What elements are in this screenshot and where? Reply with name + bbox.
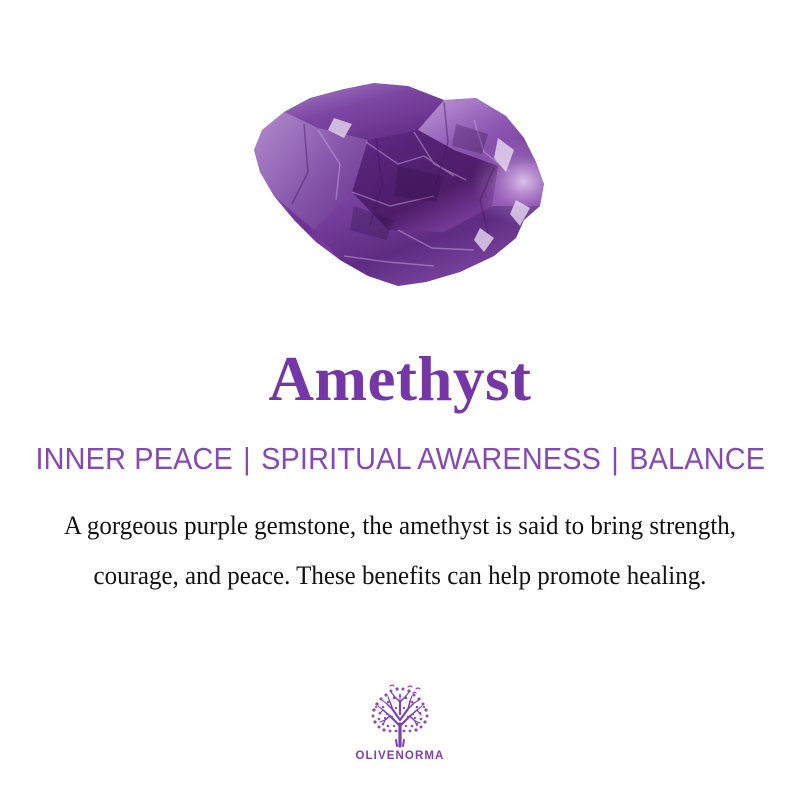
tree-of-life-icon xyxy=(363,684,437,748)
product-info-card: Amethyst INNER PEACE | SPIRITUAL AWARENE… xyxy=(0,0,800,800)
keyword-spiritual-awareness: SPIRITUAL AWARENESS xyxy=(261,441,601,477)
page-title: Amethyst xyxy=(269,348,532,411)
product-description: A gorgeous purple gemstone, the amethyst… xyxy=(54,501,745,601)
keyword-separator: | xyxy=(601,441,629,477)
keyword-separator: | xyxy=(233,441,261,477)
gemstone-image-area xyxy=(0,0,800,300)
keyword-balance: BALANCE xyxy=(629,441,765,477)
raw-amethyst-crystal-image xyxy=(248,80,552,292)
keyword-list: INNER PEACE | SPIRITUAL AWARENESS | BALA… xyxy=(35,441,765,477)
brand-name: OLIVENORMA xyxy=(356,750,445,762)
keyword-inner-peace: INNER PEACE xyxy=(35,441,232,477)
brand-logo[interactable]: OLIVENORMA xyxy=(0,684,800,762)
